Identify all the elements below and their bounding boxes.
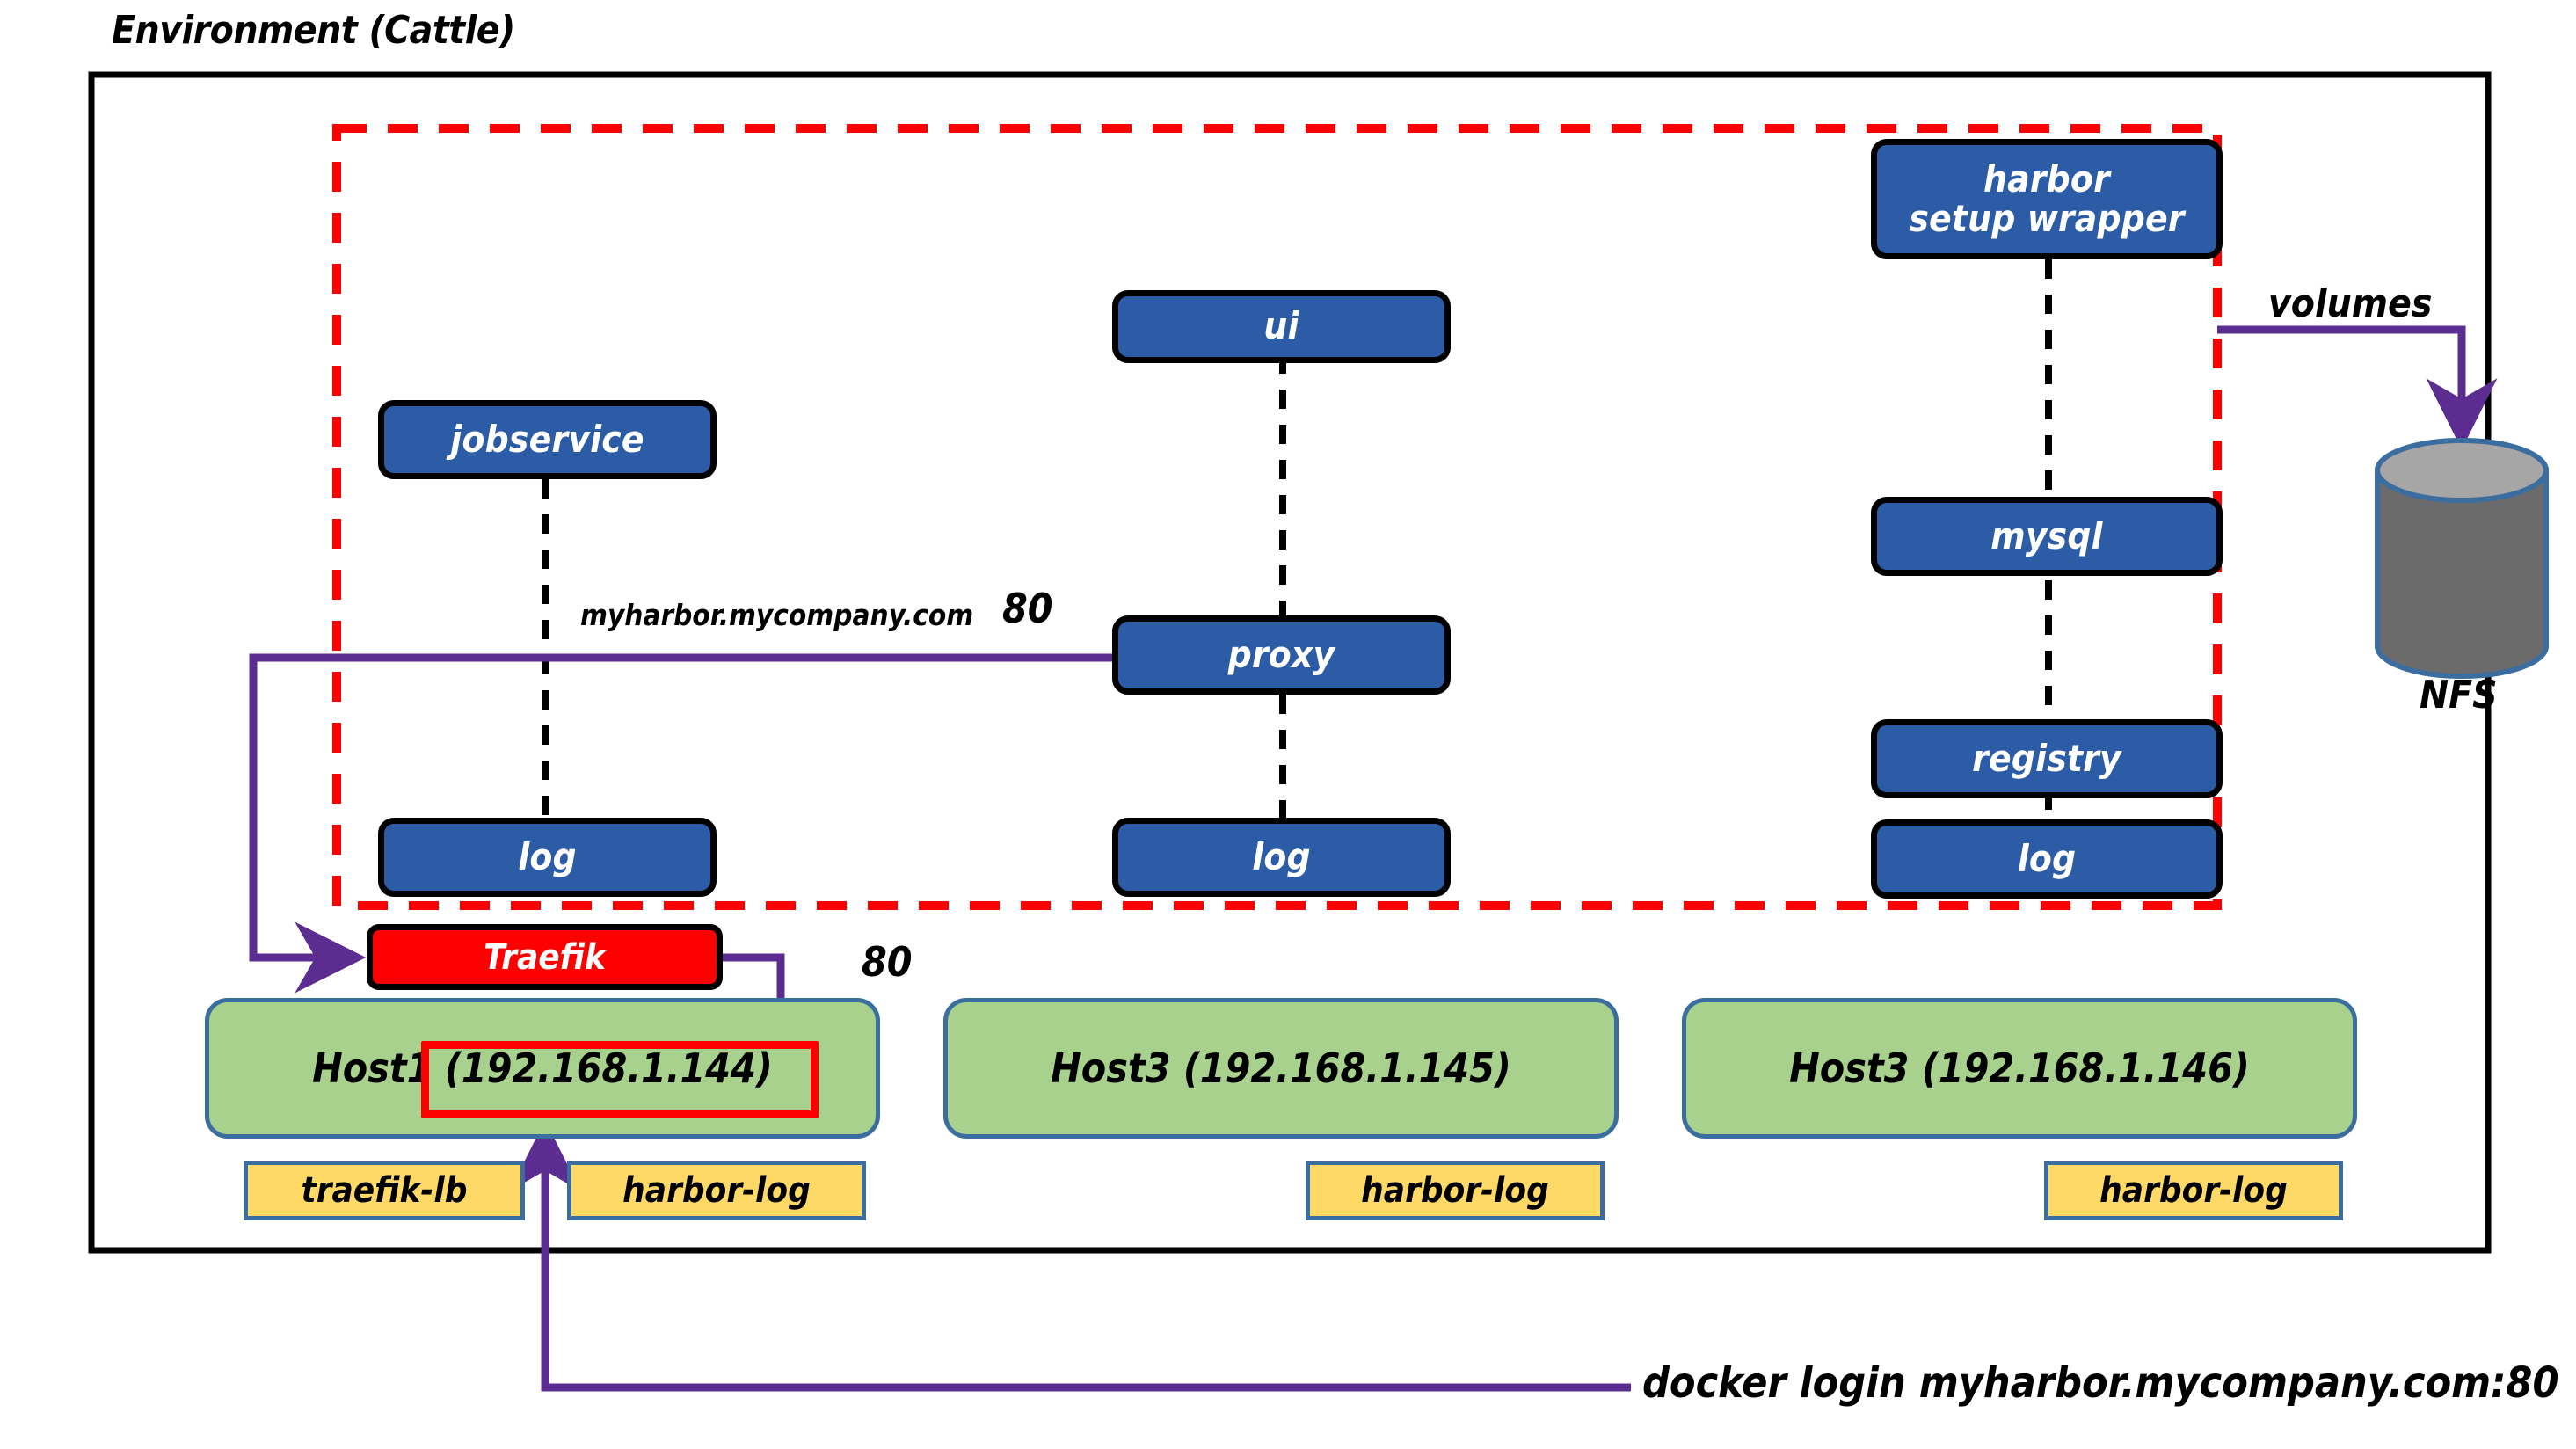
stack-tag-traefik-lb[interactable]: traefik-lb — [244, 1161, 525, 1220]
service-node-proxy[interactable]: proxy — [1112, 615, 1451, 695]
traefik-label: Traefik — [484, 937, 606, 978]
host-box-3[interactable]: Host3 (192.168.1.146) — [1682, 998, 2357, 1139]
stack-tag-harbor-log-host2[interactable]: harbor-log — [1306, 1161, 1605, 1220]
service-node-mysql[interactable]: mysql — [1871, 497, 2223, 576]
host1-ip-highlight — [421, 1041, 819, 1118]
tag-label: harbor-log — [1361, 1170, 1549, 1211]
service-label: mysql — [1990, 517, 2103, 556]
stack-tag-harbor-log-host1[interactable]: harbor-log — [567, 1161, 866, 1220]
tag-label: harbor-log — [622, 1170, 811, 1211]
page-title: Environment (Cattle) — [112, 8, 515, 53]
service-node-log-center[interactable]: log — [1112, 818, 1451, 897]
nfs-cylinder — [2377, 441, 2546, 676]
service-label: proxy — [1228, 636, 1335, 674]
host-label: Host3 (192.168.1.145) — [1051, 1045, 1511, 1092]
hostname-annotation: myharbor.mycompany.com — [580, 598, 973, 632]
diagram-canvas: Environment (Cattle) jobservice log ui p… — [0, 0, 2576, 1449]
service-label: log — [1252, 838, 1311, 877]
service-label-line1: harbor — [1983, 160, 2110, 199]
port-annotation-traefik: 80 — [862, 938, 913, 986]
service-label: log — [518, 838, 577, 877]
service-label: log — [2018, 840, 2077, 878]
host-box-2[interactable]: Host3 (192.168.1.145) — [943, 998, 1619, 1139]
tag-label: traefik-lb — [302, 1170, 468, 1211]
tag-label: harbor-log — [2099, 1170, 2288, 1211]
traefik-load-balancer[interactable]: Traefik — [367, 924, 723, 990]
service-label: registry — [1972, 739, 2121, 778]
nfs-label: NFS — [2420, 673, 2498, 717]
service-node-registry[interactable]: registry — [1871, 719, 2223, 798]
host-label: Host3 (192.168.1.146) — [1789, 1045, 2250, 1092]
service-node-harbor-setup-wrapper[interactable]: harbor setup wrapper — [1871, 139, 2223, 259]
service-label: ui — [1263, 307, 1299, 346]
service-label-line2: setup wrapper — [1909, 200, 2184, 238]
port-annotation-proxy: 80 — [1002, 585, 1053, 632]
volumes-annotation: volumes — [2268, 281, 2432, 326]
service-node-jobservice[interactable]: jobservice — [378, 400, 717, 479]
service-node-ui[interactable]: ui — [1112, 290, 1451, 363]
service-node-log-left[interactable]: log — [378, 818, 717, 897]
stack-tag-harbor-log-host3[interactable]: harbor-log — [2044, 1161, 2343, 1220]
service-node-log-right[interactable]: log — [1871, 819, 2223, 899]
docker-login-annotation: docker login myharbor.mycompany.com:80 — [1642, 1358, 2559, 1408]
service-label: jobservice — [450, 420, 644, 459]
